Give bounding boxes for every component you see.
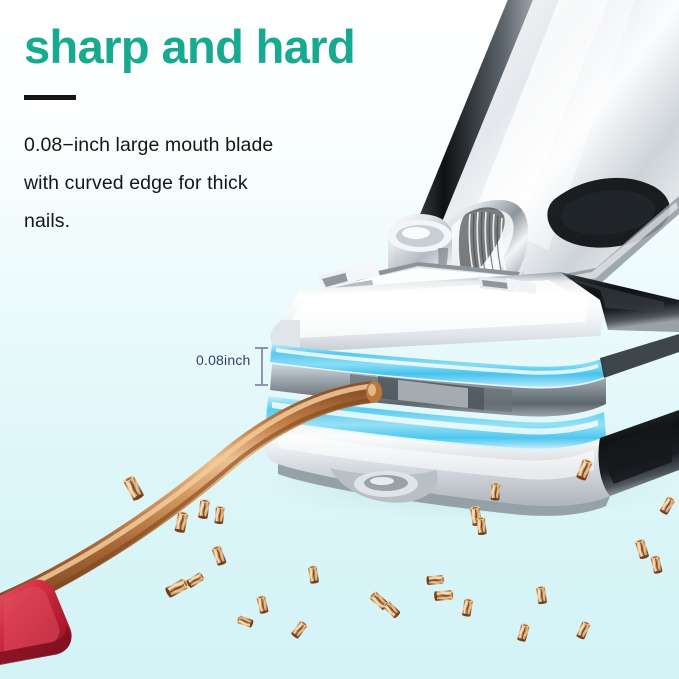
- description-line-2: with curved edge for thick: [24, 164, 354, 202]
- red-wire-boot: [0, 580, 72, 665]
- description-line-1: 0.08−inch large mouth blade: [24, 126, 354, 164]
- copper-chip: [475, 515, 488, 536]
- copper-chip: [425, 574, 446, 586]
- description-line-3: nails.: [24, 202, 354, 240]
- dimension-cap-top: [255, 347, 268, 349]
- description-text: 0.08−inch large mouth blade with curved …: [24, 126, 354, 240]
- upper-jaw-slab: [270, 272, 679, 387]
- product-feature-image: 0.08inch sharp and hard 0.08−inch large …: [0, 0, 679, 679]
- nail-clipper-illustration: [0, 0, 679, 679]
- measurement-label: 0.08inch: [196, 352, 251, 368]
- title-divider: [24, 95, 76, 100]
- page-title: sharp and hard: [24, 20, 355, 74]
- dimension-cap-bottom: [255, 384, 268, 386]
- copper-chip: [213, 504, 226, 525]
- copper-chip: [433, 589, 455, 602]
- copper-chip: [489, 482, 501, 502]
- dimension-line: [261, 347, 263, 386]
